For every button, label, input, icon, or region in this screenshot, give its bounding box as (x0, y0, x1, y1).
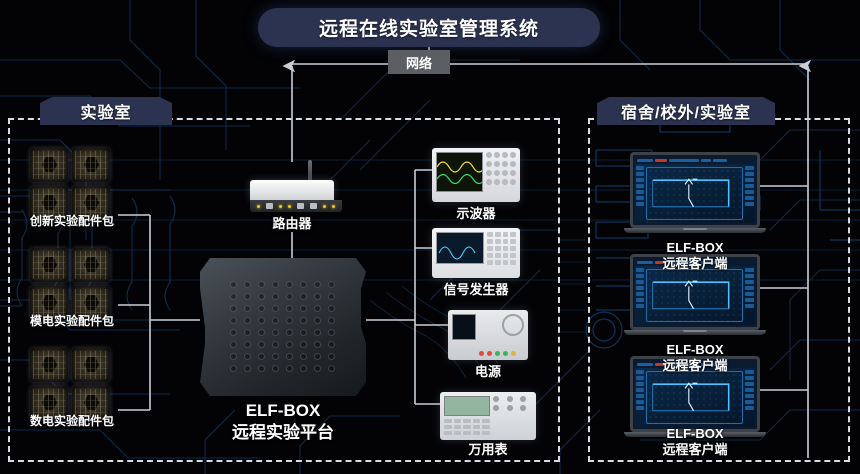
app-sidebar (636, 166, 644, 221)
signal-generator-device (432, 228, 520, 278)
app-sidebar (636, 268, 644, 323)
power-supply-screen (452, 314, 476, 340)
signal-generator-label: 信号发生器 (418, 282, 534, 298)
led-indicator (257, 205, 260, 208)
laptop-base (624, 330, 766, 335)
power-supply-device (448, 310, 528, 360)
laptop-base (624, 228, 766, 233)
circuit-schematic-icon (647, 270, 742, 321)
client-2-subtitle: 远程客户端 (625, 358, 765, 374)
client-2-name: ELF-BOX (625, 342, 765, 358)
chip-grid (30, 248, 114, 320)
accessory-pack-3-label: 数电实验配件包 (14, 414, 130, 429)
router-label: 路由器 (242, 216, 342, 232)
waveform-icon (437, 233, 483, 263)
app-sidebar (636, 370, 644, 425)
rotary-dial-icon (502, 314, 524, 336)
chip-module (72, 148, 110, 182)
multimeter-device (440, 392, 536, 440)
client-laptop-1 (630, 152, 760, 233)
client-1-subtitle: 远程客户端 (625, 256, 765, 272)
accessory-pack-3 (30, 348, 114, 424)
client-3-name: ELF-BOX (625, 426, 765, 442)
chip-module (30, 348, 68, 382)
signal-generator-keypad (487, 232, 516, 274)
chip-grid (30, 148, 114, 220)
app-panel (745, 370, 754, 425)
led-indicator (288, 205, 291, 208)
schematic-canvas (646, 269, 743, 322)
elfbox-platform-device (200, 258, 366, 396)
client-1-name: ELF-BOX (625, 240, 765, 256)
accessory-pack-1-label: 创新实验配件包 (14, 214, 130, 229)
chip-grid (30, 348, 114, 420)
oscilloscope-label: 示波器 (426, 206, 526, 222)
circuit-schematic-icon (647, 168, 742, 219)
accessory-pack-2 (30, 248, 114, 324)
accessory-pack-1 (30, 148, 114, 224)
power-supply-label: 电源 (438, 364, 538, 380)
laptop-screen (635, 157, 755, 223)
chip-module (72, 348, 110, 382)
zone-label-lab: 实验室 (40, 97, 172, 125)
page-title: 远程在线实验室管理系统 (258, 8, 600, 47)
led-indicator (332, 205, 335, 208)
waveform-icon (437, 153, 483, 191)
diagram-canvas: 远程在线实验室管理系统 网络 实验室 宿舍/校外/实验室 创新实验配件包 模电实… (0, 0, 860, 474)
network-label: 网络 (388, 50, 450, 74)
record-button-icon (655, 159, 667, 162)
led-indicator (323, 205, 326, 208)
accessory-pack-2-label: 模电实验配件包 (14, 314, 130, 329)
oscilloscope-screen (436, 152, 483, 192)
oscilloscope-device (432, 148, 520, 202)
multimeter-display (444, 396, 490, 416)
ethernet-port (310, 203, 317, 209)
multimeter-keypad (444, 419, 490, 435)
multimeter-terminals (493, 396, 532, 436)
multimeter-label: 万用表 (438, 442, 538, 458)
led-indicator (279, 205, 282, 208)
elfbox-platform-name: ELF-BOX (200, 400, 366, 421)
ethernet-port (297, 203, 304, 209)
power-supply-controls (479, 314, 524, 356)
chip-module (72, 248, 110, 282)
elfbox-platform-subtitle: 远程实验平台 (200, 422, 366, 443)
client-3-subtitle: 远程客户端 (625, 442, 765, 458)
router-device (250, 180, 342, 212)
oscilloscope-controls (486, 152, 516, 198)
laptop-lid (630, 152, 760, 228)
zone-label-remote: 宿舍/校外/实验室 (597, 97, 775, 125)
output-terminals (479, 351, 524, 356)
router-ports (250, 200, 342, 212)
schematic-canvas (646, 371, 743, 424)
antenna-icon (308, 160, 312, 182)
app-panel (745, 166, 754, 221)
app-toolbar (635, 157, 755, 164)
schematic-canvas (646, 167, 743, 220)
circuit-schematic-icon (647, 372, 742, 423)
router-body (250, 180, 334, 200)
breadboard-hole-grid (226, 278, 338, 374)
multimeter-left (444, 396, 490, 436)
app-panel (745, 268, 754, 323)
signal-generator-screen (436, 232, 484, 264)
chip-module (30, 148, 68, 182)
ethernet-port (266, 203, 273, 209)
chip-module (30, 248, 68, 282)
